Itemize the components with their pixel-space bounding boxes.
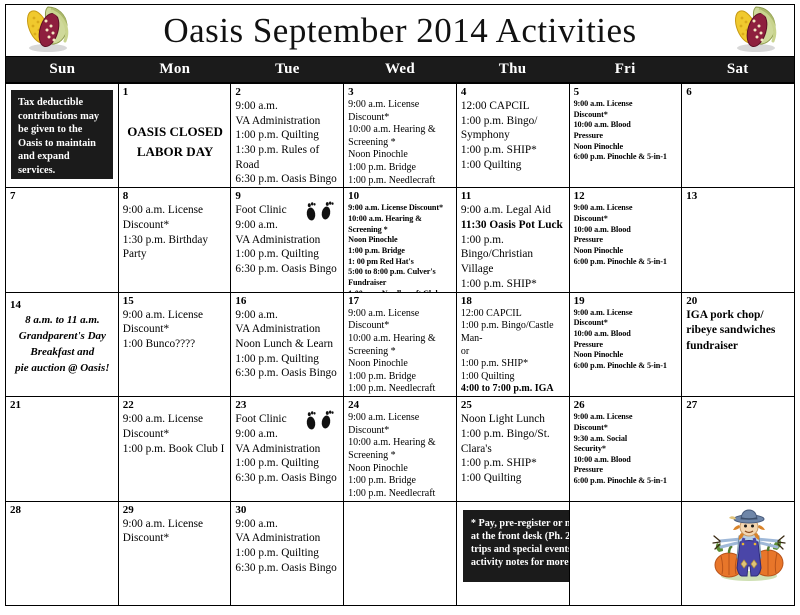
event-item: Noon Light Lunch — [461, 412, 566, 427]
event-item: 4:00 to 7:00 p.m. IGA drive — [461, 383, 566, 397]
event-item: 1:00 Bunco???? — [123, 337, 228, 352]
calendar-cell-25[interactable]: 25 Noon Light Lunch 1:00 p.m. Bingo/St. … — [457, 397, 570, 501]
event-item: 9:00 a.m. License — [123, 308, 228, 323]
day-events: Noon Light Lunch 1:00 p.m. Bingo/St. Cla… — [461, 412, 566, 485]
corn-icon — [726, 3, 782, 57]
day-events: 9:00 a.m. License Discount* 10:00 a.m. H… — [348, 203, 453, 292]
event-item: 1:00 p.m. Bridge — [348, 246, 453, 257]
event-item: ribeye sandwiches — [686, 323, 791, 339]
calendar-cell-24[interactable]: 24 9:00 a.m. License Discount* 10:00 a.m… — [344, 397, 457, 501]
event-item: Noon Pinochle — [348, 235, 453, 246]
day-number: 7 — [10, 190, 115, 202]
day-events: 9:00 a.m. License Discount* 10:00 a.m. H… — [348, 308, 453, 397]
calendar-cell-note-pay: * Pay, pre-register or make an appointme… — [457, 502, 570, 606]
event-item: Noon Pinochle — [574, 350, 679, 361]
day-number: 19 — [574, 295, 679, 307]
weekday-header-wed: Wed — [344, 57, 457, 82]
event-item: 9:00 a.m. Legal Aid — [461, 203, 566, 218]
event-item: Discount* — [123, 322, 228, 337]
event-item: Screening * — [348, 346, 453, 359]
calendar-cell-empty-wed-last — [344, 502, 457, 606]
day-number: 25 — [461, 399, 566, 411]
event-item: 9:00 a.m. License — [574, 412, 679, 423]
calendar-cell-22[interactable]: 22 9:00 a.m. License Discount* 1:00 p.m.… — [119, 397, 232, 501]
event-item: LABOR DAY — [137, 142, 213, 162]
event-item: fundraiser — [686, 339, 791, 355]
calendar-cell-30[interactable]: 30 9:00 a.m. VA Administration 1:00 p.m.… — [231, 502, 344, 606]
day-events: OASIS CLOSED LABOR DAY — [123, 99, 228, 188]
calendar-cell-26[interactable]: 26 9:00 a.m. License Discount* 9:30 a.m.… — [570, 397, 683, 501]
event-item: VA Administration — [235, 531, 340, 546]
day-number: 6 — [686, 86, 791, 98]
footprints-icon — [303, 408, 337, 432]
event-item: 10:00 a.m. Hearing & — [348, 124, 453, 137]
event-item: 1:00 p.m. Bingo/ — [461, 114, 566, 129]
event-item: 6:00 p.m. Pinochle & 5-in-1 — [574, 152, 679, 163]
calendar-cell-11[interactable]: 11 9:00 a.m. Legal Aid 11:30 Oasis Pot L… — [457, 188, 570, 292]
event-item: or — [461, 346, 566, 359]
calendar-cell-19[interactable]: 19 9:00 a.m. License Discount* 10:00 a.m… — [570, 293, 683, 397]
event-item: 1:00 p.m. SHIP* — [461, 358, 566, 371]
event-item: 1:00 p.m. Bridge — [348, 371, 453, 384]
event-item: Pressure — [574, 131, 679, 142]
event-item: 9:00 a.m. License Discount* — [348, 203, 453, 214]
event-item: 1: 00 pm Red Hat's — [348, 257, 453, 268]
weekday-header-sun: Sun — [6, 57, 119, 82]
calendar-cell-17[interactable]: 17 9:00 a.m. License Discount* 10:00 a.m… — [344, 293, 457, 397]
day-number: 29 — [123, 504, 228, 516]
event-item: 10:00 a.m. Blood — [574, 225, 679, 236]
day-events: 8 a.m. to 11 a.m. Grandparent's Day Brea… — [10, 313, 115, 377]
event-item: 5:00 to 8:00 p.m. Culver's — [348, 267, 453, 278]
event-item: 9:00 a.m. License — [123, 517, 228, 532]
event-item: 1:00 p.m. Quilting — [235, 456, 340, 471]
day-number: 14 — [10, 299, 21, 311]
day-events: 9:00 a.m. License Discount* 1:00 Bunco??… — [123, 308, 228, 352]
calendar-cell-21[interactable]: 21 — [6, 397, 119, 501]
calendar-cell-28[interactable]: 28 — [6, 502, 119, 606]
event-item: 9:00 a.m. License — [574, 203, 679, 214]
event-item: pie auction @ Oasis! — [10, 361, 115, 377]
calendar-title-bar: Oasis September 2014 Activities — [5, 4, 795, 56]
day-events: 9:00 a.m. License Discount* 1:00 p.m. Bo… — [123, 412, 228, 456]
event-item: 6:00 p.m. Pinochle & 5-in-1 — [574, 361, 679, 372]
event-item: 9:00 a.m. License — [123, 412, 228, 427]
event-item: 9:00 a.m. License — [123, 203, 228, 218]
event-item: 1:00 p.m. SHIP* — [461, 277, 566, 292]
pay-preregister-note: * Pay, pre-register or make an appointme… — [463, 510, 570, 582]
event-item: Pressure — [574, 340, 679, 351]
day-number: 16 — [235, 295, 340, 307]
calendar-cell-23[interactable]: 23 Foot Clinic 9:00 — [231, 397, 344, 501]
day-number: 26 — [574, 399, 679, 411]
calendar-cell-6[interactable]: 6 — [682, 84, 795, 188]
day-number: 1 — [123, 86, 228, 98]
day-events: 12:00 CAPCIL 1:00 p.m. Bingo/Castle Man-… — [461, 308, 566, 397]
event-item: Noon Pinochle — [348, 358, 453, 371]
day-events: 9:00 a.m. VA Administration 1:00 p.m. Qu… — [235, 99, 340, 187]
day-events: 9:00 a.m. License Discount* 9:30 a.m. So… — [574, 412, 679, 487]
day-number: 8 — [123, 190, 228, 202]
day-events: 9:00 a.m. License Discount* 10:00 a.m. H… — [348, 412, 453, 501]
event-item: Screening * — [348, 450, 453, 463]
event-item: 1:30 p.m. Birthday — [123, 233, 228, 248]
event-item: Noon Pinochle — [348, 463, 453, 476]
event-item: Noon Pinochle — [574, 246, 679, 257]
event-item: OASIS CLOSED — [127, 122, 223, 142]
calendar-cell-14[interactable]: 14 8 a.m. to 11 a.m. Grandparent's Day B… — [6, 293, 119, 397]
scarecrow-icon — [711, 508, 787, 584]
day-events: 9:00 a.m. VA Administration 1:00 p.m. Qu… — [235, 517, 340, 576]
weekday-header-thu: Thu — [456, 57, 569, 82]
day-number: 13 — [686, 190, 791, 202]
event-item: Fundraiser — [348, 278, 453, 289]
event-item: Pressure — [574, 465, 679, 476]
calendar-cell-note-tax: Tax deductible contributions may be give… — [6, 84, 119, 188]
event-item: 1:00 p.m. Quilting — [235, 247, 340, 262]
event-item: 9:00 a.m. License Discount* — [348, 412, 453, 437]
day-events: IGA pork chop/ ribeye sandwiches fundrai… — [686, 308, 791, 355]
day-number: 3 — [348, 86, 453, 98]
event-item: 1:00 p.m. Needlecraft Club — [348, 175, 453, 189]
event-item: VA Administration — [235, 442, 340, 457]
day-number: 18 — [461, 295, 566, 307]
event-item: 6:00 p.m. Pinochle & 5-in-1 — [574, 476, 679, 487]
event-item: VA Administration — [235, 233, 340, 248]
event-item: 1:00 p.m. Needlecraft Club — [348, 383, 453, 397]
day-number: 30 — [235, 504, 340, 516]
calendar-cell-12[interactable]: 12 9:00 a.m. License Discount* 10:00 a.m… — [570, 188, 683, 292]
event-item: Breakfast and — [10, 345, 115, 361]
calendar-cell-4[interactable]: 4 12:00 CAPCIL 1:00 p.m. Bingo/ Symphony… — [457, 84, 570, 188]
event-item: 1:30 p.m. Rules of Road — [235, 143, 340, 172]
event-item: 10:00 a.m. Blood — [574, 329, 679, 340]
event-item: 11:30 Oasis Pot Luck — [461, 218, 566, 233]
event-item: 9:00 a.m. — [235, 308, 340, 323]
event-item: 6:30 p.m. Oasis Bingo — [235, 172, 340, 187]
event-item: Noon Lunch & Learn — [235, 337, 340, 352]
event-item: 9:00 a.m. License — [574, 308, 679, 319]
event-item: Security* — [574, 444, 679, 455]
event-item: 1:00 p.m. SHIP* — [461, 143, 566, 158]
event-item: 9:00 a.m. — [235, 517, 340, 532]
day-number: 2 — [235, 86, 340, 98]
calendar-cell-18[interactable]: 18 12:00 CAPCIL 1:00 p.m. Bingo/Castle M… — [457, 293, 570, 397]
day-events: 9:00 a.m. License Discount* — [123, 517, 228, 546]
day-number: 22 — [123, 399, 228, 411]
day-events: 12:00 CAPCIL 1:00 p.m. Bingo/ Symphony 1… — [461, 99, 566, 172]
event-item: 1:00 p.m. Bingo/Christian — [461, 233, 566, 262]
page-title: Oasis September 2014 Activities — [163, 11, 636, 51]
event-item: 10:00 a.m. Blood — [574, 455, 679, 466]
event-item: 6:30 p.m. Oasis Bingo — [235, 262, 340, 277]
event-item: 1:00 p.m. Bingo/Castle Man- — [461, 320, 566, 345]
calendar-cell-8[interactable]: 8 9:00 a.m. License Discount* 1:30 p.m. … — [119, 188, 232, 292]
event-item: 1:00 p.m. SHIP* — [461, 456, 566, 471]
event-item: Noon Pinochle — [348, 149, 453, 162]
event-item: 9:00 a.m. License — [574, 99, 679, 110]
day-number: 11 — [461, 190, 566, 202]
event-item: Discount* — [123, 218, 228, 233]
event-item: Discount* — [574, 423, 679, 434]
calendar-cell-1[interactable]: 1 OASIS CLOSED LABOR DAY — [119, 84, 232, 188]
event-item: Discount* — [123, 427, 228, 442]
day-number: 10 — [348, 190, 453, 202]
event-item: Discount* — [574, 110, 679, 121]
event-item: 1:00 p.m. Book Club I — [123, 442, 228, 457]
day-events: 9:00 a.m. License Discount* 10:00 a.m. B… — [574, 99, 679, 163]
day-number: 24 — [348, 399, 453, 411]
event-item: Screening * — [348, 137, 453, 150]
day-events: 9:00 a.m. License Discount* 1:30 p.m. Bi… — [123, 203, 228, 262]
event-item: 1:00 p.m. Bridge — [348, 162, 453, 175]
event-item: Symphony — [461, 128, 566, 143]
event-item: 9:00 a.m. — [235, 99, 340, 114]
day-events: 9:00 a.m. License Discount* 10:00 a.m. H… — [348, 99, 453, 188]
calendar-page: Oasis September 2014 Activities — [0, 0, 800, 615]
weekday-header-fri: Fri — [569, 57, 682, 82]
event-item: 6:30 p.m. Oasis Bingo — [235, 366, 340, 381]
day-number: 4 — [461, 86, 566, 98]
weekday-header-mon: Mon — [119, 57, 232, 82]
calendar-cell-7[interactable]: 7 — [6, 188, 119, 292]
event-item: 10:00 a.m. Hearing & — [348, 437, 453, 450]
day-number: 27 — [686, 399, 791, 411]
event-item: Discount* — [574, 318, 679, 329]
event-item: Clara's — [461, 442, 566, 457]
tax-deductible-note: Tax deductible contributions may be give… — [11, 90, 113, 179]
corn-icon — [18, 3, 74, 57]
event-item: Discount* — [123, 531, 228, 546]
day-events: 9:00 a.m. License Discount* 10:00 a.m. B… — [574, 203, 679, 267]
event-item: 1:00 p.m. Bridge — [348, 475, 453, 488]
calendar-cell-29[interactable]: 29 9:00 a.m. License Discount* — [119, 502, 232, 606]
event-item: Village — [461, 262, 566, 277]
event-item: VA Administration — [235, 114, 340, 129]
calendar-cell-3[interactable]: 3 9:00 a.m. License Discount* 10:00 a.m.… — [344, 84, 457, 188]
weekday-header-row: Sun Mon Tue Wed Thu Fri Sat — [5, 56, 795, 83]
event-item: VA Administration — [235, 322, 340, 337]
calendar-cell-10[interactable]: 10 9:00 a.m. License Discount* 10:00 a.m… — [344, 188, 457, 292]
day-events: 9:00 a.m. License Discount* 10:00 a.m. B… — [574, 308, 679, 372]
calendar-cell-16[interactable]: 16 9:00 a.m. VA Administration Noon Lunc… — [231, 293, 344, 397]
calendar-grid: Tax deductible contributions may be give… — [5, 83, 795, 606]
day-events: 9:00 a.m. VA Administration Noon Lunch &… — [235, 308, 340, 381]
day-number: 15 — [123, 295, 228, 307]
event-item: 1:00 p.m. Quilting — [235, 546, 340, 561]
event-item: 12:00 CAPCIL — [461, 308, 566, 321]
event-item: 10:00 a.m. Blood — [574, 120, 679, 131]
day-number: 12 — [574, 190, 679, 202]
calendar-cell-13[interactable]: 13 — [682, 188, 795, 292]
event-item: 12:00 CAPCIL — [461, 99, 566, 114]
calendar-cell-empty-fri-last — [570, 502, 683, 606]
day-number: 20 — [686, 295, 791, 307]
event-item: Noon Pinochle — [574, 142, 679, 153]
event-item: Party — [123, 247, 228, 262]
calendar-cell-scarecrow — [682, 502, 795, 606]
calendar-cell-27[interactable]: 27 — [682, 397, 795, 501]
event-item: 9:30 a.m. Social — [574, 434, 679, 445]
event-item: 1:00 p.m. Bingo/St. — [461, 427, 566, 442]
event-item: 6:30 p.m. Oasis Bingo — [235, 561, 340, 576]
calendar-cell-9[interactable]: 9 Foot Clinic 9:00 — [231, 188, 344, 292]
event-item: Pressure — [574, 235, 679, 246]
event-item: 9:00 a.m. License Discount* — [348, 308, 453, 333]
day-number: 21 — [10, 399, 115, 411]
event-item: Grandparent's Day — [10, 329, 115, 345]
calendar-cell-5[interactable]: 5 9:00 a.m. License Discount* 10:00 a.m.… — [570, 84, 683, 188]
weekday-header-sat: Sat — [681, 57, 794, 82]
day-number: 28 — [10, 504, 115, 516]
event-item: 1:00 p.m. Quilting — [235, 352, 340, 367]
event-item: 1:00 Quilting — [461, 471, 566, 486]
event-item: 1:00 Quilting — [461, 158, 566, 173]
event-item: Discount* — [574, 214, 679, 225]
day-number: 5 — [574, 86, 679, 98]
event-item: 10:00 a.m. Hearing & Screening * — [348, 214, 453, 235]
calendar-cell-20[interactable]: 20 IGA pork chop/ ribeye sandwiches fund… — [682, 293, 795, 397]
event-item: 8 a.m. to 11 a.m. — [10, 313, 115, 329]
event-item: 9:00 a.m. License Discount* — [348, 99, 453, 124]
day-events: 9:00 a.m. Legal Aid 11:30 Oasis Pot Luck… — [461, 203, 566, 292]
event-item: 6:30 p.m. Oasis Bingo — [235, 471, 340, 486]
calendar-cell-2[interactable]: 2 9:00 a.m. VA Administration 1:00 p.m. … — [231, 84, 344, 188]
event-item: 10:00 a.m. Hearing & — [348, 333, 453, 346]
footprints-icon — [303, 199, 337, 223]
event-item: 6:00 p.m. Pinochle & 5-in-1 — [574, 257, 679, 268]
calendar-cell-15[interactable]: 15 9:00 a.m. License Discount* 1:00 Bunc… — [119, 293, 232, 397]
event-item: IGA pork chop/ — [686, 308, 791, 324]
event-item: 1:00 p.m. Needlecraft Club — [348, 488, 453, 502]
weekday-header-tue: Tue — [231, 57, 344, 82]
day-number: 17 — [348, 295, 453, 307]
event-item: 1:00 p.m. Quilting — [235, 128, 340, 143]
event-item: 1:00 Quilting — [461, 371, 566, 384]
